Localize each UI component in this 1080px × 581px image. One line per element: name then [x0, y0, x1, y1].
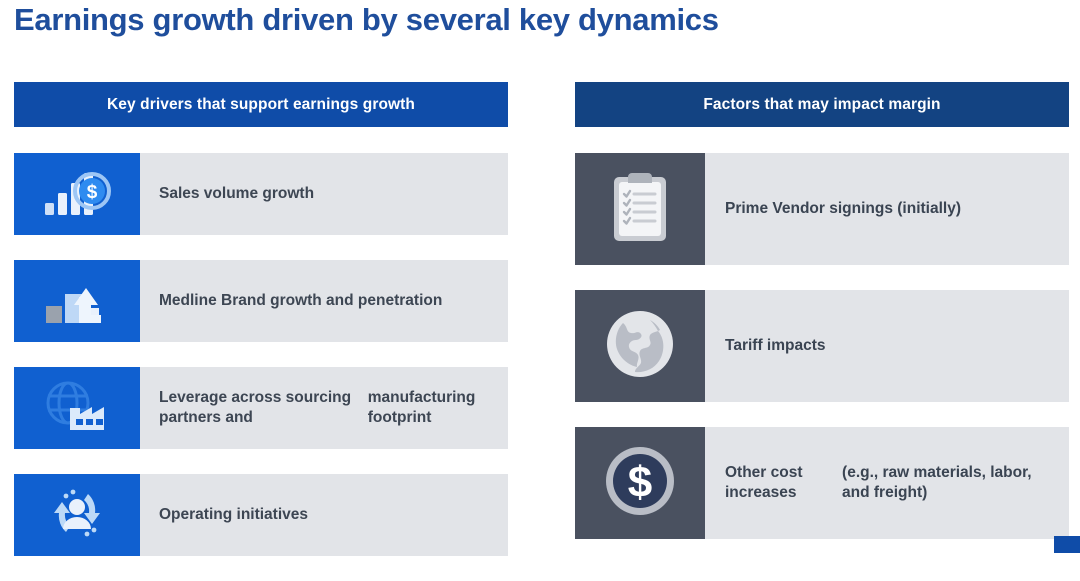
list-item-label: Operating initiatives	[140, 474, 508, 556]
icon-tile	[14, 367, 140, 449]
column-margin-factors: Factors that may impact margin	[575, 82, 1069, 564]
list-item-label: Medline Brand growth and penetration	[140, 260, 508, 342]
corner-accent-mark	[1054, 536, 1080, 553]
list-item-label-line1: Leverage across sourcing partners and	[159, 388, 368, 429]
icon-tile	[575, 290, 705, 402]
list-item-label: Other cost increases (e.g., raw material…	[705, 427, 1069, 539]
icon-tile: $	[575, 427, 705, 539]
list-item-label-line2: (e.g., raw materials, labor, and freight…	[842, 463, 1055, 504]
column-header-key-drivers: Key drivers that support earnings growth	[14, 82, 508, 127]
list-item[interactable]: Prime Vendor signings (initially)	[575, 153, 1069, 265]
list-item-label-line1: Other cost increases	[725, 463, 842, 504]
clipboard-checklist-icon	[608, 169, 672, 250]
person-cycle-arrows-icon	[41, 485, 113, 546]
list-item[interactable]: $ Other cost increases (e.g., raw materi…	[575, 427, 1069, 539]
bar-chart-dollar-icon: $	[41, 165, 113, 224]
icon-tile: $	[14, 153, 140, 235]
list-item-label-line2: manufacturing footprint	[368, 388, 494, 429]
list-item[interactable]: Medline Brand growth and penetration	[14, 260, 508, 342]
list-item-label: Prime Vendor signings (initially)	[705, 153, 1069, 265]
svg-text:$: $	[87, 182, 98, 203]
globe-icon	[603, 307, 677, 386]
list-item[interactable]: Operating initiatives	[14, 474, 508, 556]
list-item-label: Sales volume growth	[140, 153, 508, 235]
list-item-label: Leverage across sourcing partners and ma…	[140, 367, 508, 449]
globe-factory-icon	[40, 378, 114, 439]
page-title: Earnings growth driven by several key dy…	[14, 2, 719, 38]
list-item-label: Tariff impacts	[705, 290, 1069, 402]
column-key-drivers: Key drivers that support earnings growth…	[14, 82, 508, 581]
icon-tile	[14, 260, 140, 342]
svg-text:$: $	[628, 458, 652, 507]
margin-factors-list: Prime Vendor signings (initially) Tariff…	[575, 153, 1069, 539]
column-header-margin-factors: Factors that may impact margin	[575, 82, 1069, 127]
icon-tile	[14, 474, 140, 556]
icon-tile	[575, 153, 705, 265]
list-item[interactable]: $ Sales volume growth	[14, 153, 508, 235]
dollar-coin-icon: $	[602, 443, 678, 524]
list-item[interactable]: Tariff impacts	[575, 290, 1069, 402]
key-drivers-list: $ Sales volume growth	[14, 153, 508, 556]
slide-root: Earnings growth driven by several key dy…	[0, 0, 1080, 553]
list-item[interactable]: Leverage across sourcing partners and ma…	[14, 367, 508, 449]
bar-chart-up-arrow-icon	[41, 272, 113, 331]
